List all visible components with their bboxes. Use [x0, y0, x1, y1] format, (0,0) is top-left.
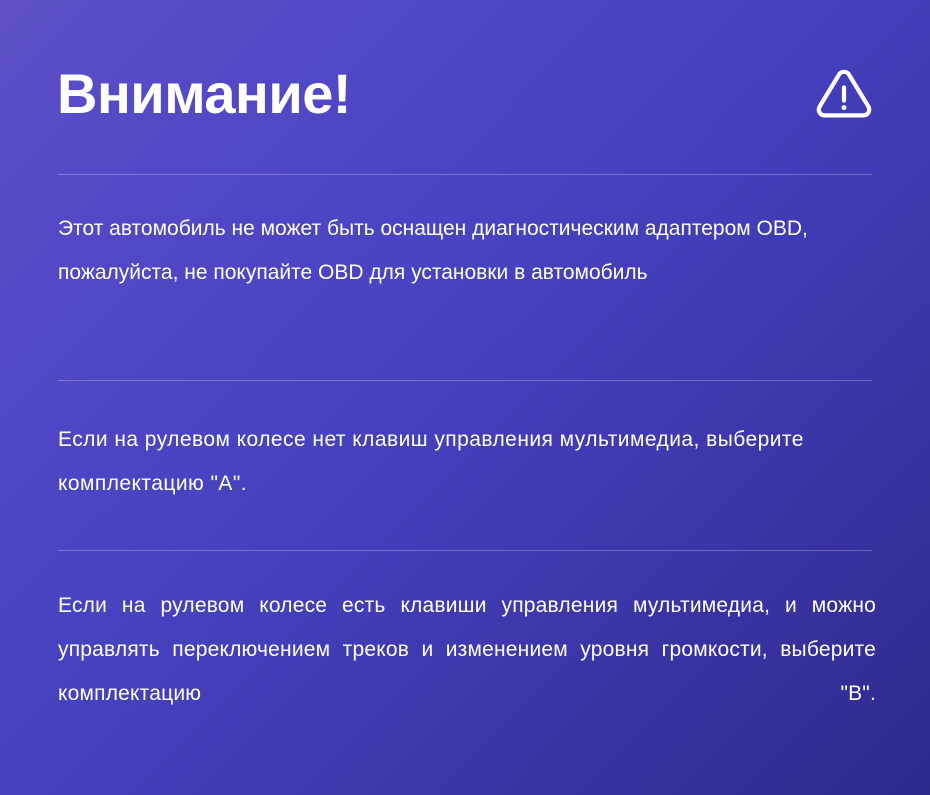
divider-3	[58, 550, 872, 551]
notice-text-trim-b: Если на рулевом колесе есть клавиши упра…	[58, 584, 876, 760]
warning-triangle-icon	[816, 69, 872, 119]
divider-1	[58, 174, 872, 175]
notice-item-trim-a: Если на рулевом колесе нет клавиш управл…	[58, 418, 876, 506]
warning-notice-screen: Внимание! Этот автомобиль не может быть …	[0, 0, 930, 795]
page-title: Внимание!	[57, 62, 351, 126]
notice-item-trim-b: Если на рулевом колесе есть клавиши упра…	[58, 584, 876, 760]
notice-item-obd: Этот автомобиль не может быть оснащен ди…	[58, 207, 876, 295]
divider-2	[58, 380, 872, 381]
notice-text-trim-a: Если на рулевом колесе нет клавиш управл…	[58, 418, 876, 506]
notice-header: Внимание!	[57, 52, 872, 136]
notice-text-obd: Этот автомобиль не может быть оснащен ди…	[58, 207, 876, 295]
